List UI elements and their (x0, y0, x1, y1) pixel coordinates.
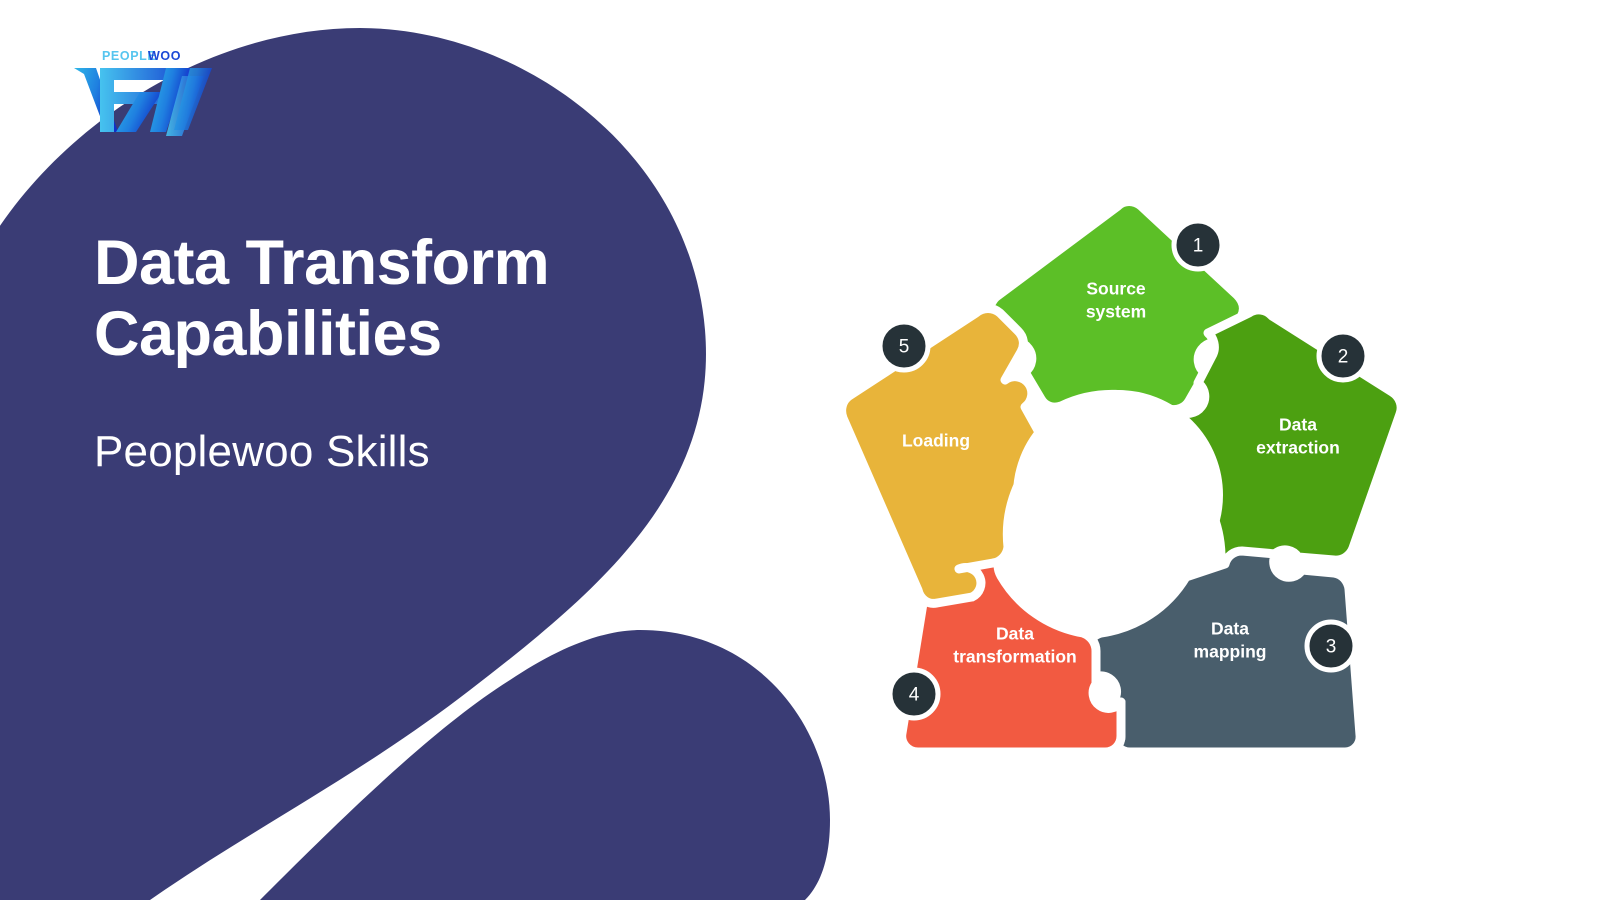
puzzle-piece-3-label-line-1: Data (1211, 619, 1249, 639)
page-title-line-2: Capabilities (94, 299, 442, 369)
puzzle-piece-loading[interactable]: Loading 5 (842, 309, 1043, 604)
puzzle-piece-5-label-line-1: Loading (902, 431, 970, 451)
puzzle-piece-1-label-line-1: Source (1086, 279, 1146, 299)
peoplewoo-logo[interactable]: PEOPLE WOO (70, 40, 230, 150)
puzzle-badge-4-number: 4 (909, 685, 920, 706)
logo-wordmark: PEOPLE WOO (102, 49, 181, 63)
jigsaw-process-diagram: Source system 1 Data extraction 2 Data m… (800, 170, 1440, 790)
puzzle-piece-3-label-line-2: mapping (1194, 642, 1267, 662)
page-subtitle: Peoplewoo Skills (94, 370, 654, 479)
puzzle-piece-4-label-line-2: transformation (953, 647, 1076, 667)
puzzle-piece-5-shape (842, 309, 1043, 604)
diagram-center-hub (1018, 395, 1218, 595)
page-title: Data Transform Capabilities (94, 228, 654, 370)
logo-mark (74, 68, 212, 136)
puzzle-piece-2-label-line-1: Data (1279, 415, 1317, 435)
navy-blob-lower (260, 630, 830, 900)
puzzle-piece-1-label-line-2: system (1086, 302, 1146, 322)
puzzle-badge-5-number: 5 (899, 337, 910, 358)
puzzle-badge-1-number: 1 (1193, 236, 1204, 257)
heading-block: Data Transform Capabilities Peoplewoo Sk… (94, 228, 654, 479)
logo-wordmark-woo: WOO (148, 49, 181, 63)
puzzle-piece-4-label-line-1: Data (996, 624, 1034, 644)
slide-canvas: PEOPLE WOO Data Transform Capabilities P… (0, 0, 1600, 900)
puzzle-piece-2-label-line-2: extraction (1256, 438, 1340, 458)
page-title-line-1: Data Transform (94, 228, 549, 298)
puzzle-badge-2-number: 2 (1338, 347, 1349, 368)
puzzle-badge-3-number: 3 (1326, 637, 1337, 658)
